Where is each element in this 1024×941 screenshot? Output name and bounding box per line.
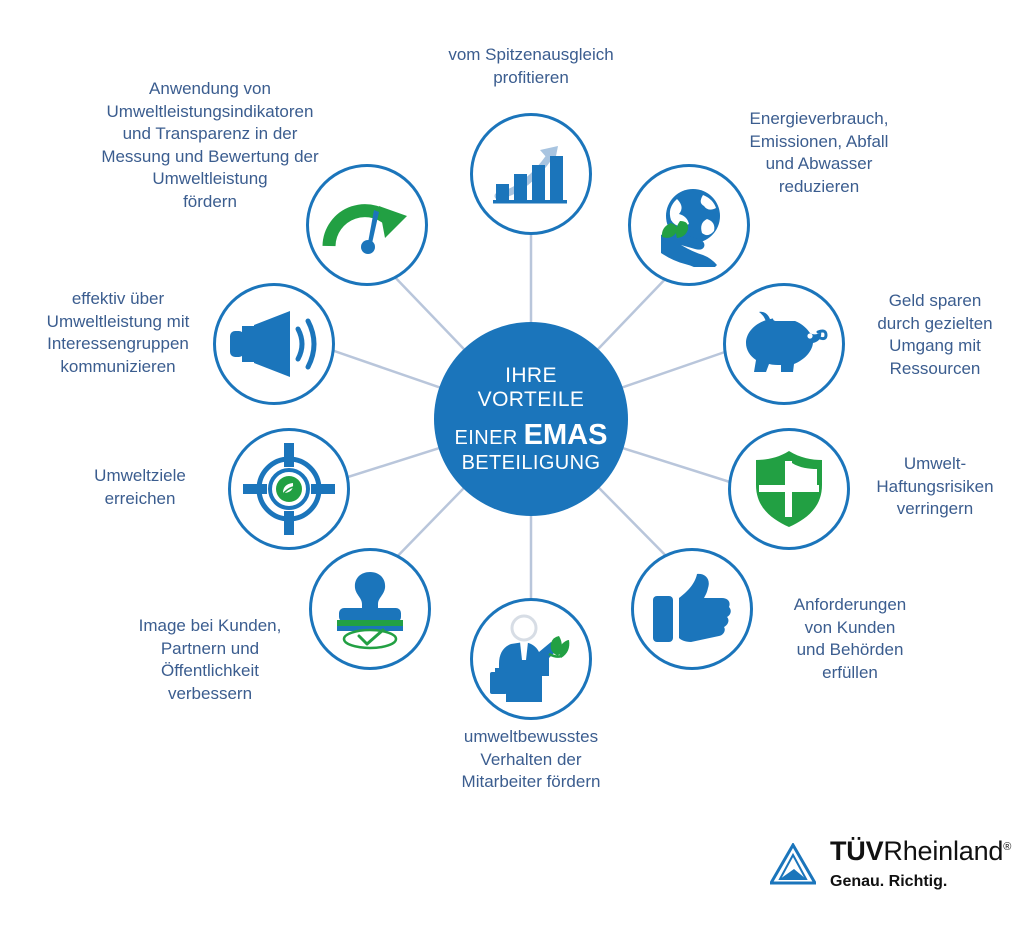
hub-line-3-emphasis: EMAS [524, 419, 608, 451]
label-target-leaf: Umweltziele erreichen [60, 465, 220, 510]
label-thumbs-up: Anforderungen von Kunden und Behörden er… [750, 594, 950, 684]
bar-chart-growth-icon [488, 134, 574, 214]
rubber-stamp-icon [327, 568, 413, 650]
hub-line-3: EINER EMAS [455, 419, 608, 451]
node-businessman-leaf[interactable] [470, 598, 592, 720]
hub-line-3-prefix: EINER [455, 427, 524, 449]
label-shield: Umwelt- Haftungsrisiken verringern [855, 453, 1015, 521]
label-bar-chart-growth: vom Spitzenausgleich profitieren [401, 44, 661, 89]
tuv-rheinland-logo: TÜVRheinland® Genau. Richtig. [770, 838, 1011, 890]
megaphone-icon [228, 309, 320, 379]
businessman-leaf-icon [489, 614, 573, 704]
infographic-canvas: IHRE VORTEILE EINER EMAS BETEILIGUNG vom… [0, 0, 1024, 941]
node-rubber-stamp[interactable] [309, 548, 431, 670]
piggy-bank-icon [740, 310, 828, 378]
logo-brand-regular: Rheinland [883, 836, 1003, 866]
hub-line-1: IHRE [505, 364, 557, 388]
logo-registered-mark: ® [1003, 841, 1011, 853]
label-gauge: Anwendung von Umweltleistungsindikatoren… [60, 78, 360, 214]
node-bar-chart-growth[interactable] [470, 113, 592, 235]
label-megaphone: effektiv über Umweltleistung mit Interes… [25, 288, 211, 378]
node-thumbs-up[interactable] [631, 548, 753, 670]
center-hub: IHRE VORTEILE EINER EMAS BETEILIGUNG [434, 322, 628, 516]
logo-tagline: Genau. Richtig. [830, 874, 1011, 890]
target-leaf-icon [243, 443, 335, 535]
node-megaphone[interactable] [213, 283, 335, 405]
label-globe-hand-leaf: Energieverbrauch, Emissionen, Abfall und… [706, 108, 932, 198]
node-target-leaf[interactable] [228, 428, 350, 550]
label-piggy-bank: Geld sparen durch gezielten Umgang mit R… [855, 290, 1015, 380]
logo-brand-bold: TÜV [830, 836, 883, 866]
label-businessman-leaf: umweltbewusstes Verhalten der Mitarbeite… [411, 726, 651, 794]
label-rubber-stamp: Image bei Kunden, Partnern und Öffentlic… [110, 615, 310, 705]
shield-icon [753, 449, 825, 529]
tuv-triangle-mark-icon [770, 843, 816, 885]
node-piggy-bank[interactable] [723, 283, 845, 405]
logo-wordmark: TÜVRheinland® Genau. Richtig. [830, 838, 1011, 890]
hub-line-2: VORTEILE [478, 388, 585, 412]
node-shield[interactable] [728, 428, 850, 550]
logo-brand: TÜVRheinland® [830, 838, 1011, 865]
thumbs-up-icon [651, 572, 733, 646]
hub-line-4: BETEILIGUNG [462, 452, 601, 474]
